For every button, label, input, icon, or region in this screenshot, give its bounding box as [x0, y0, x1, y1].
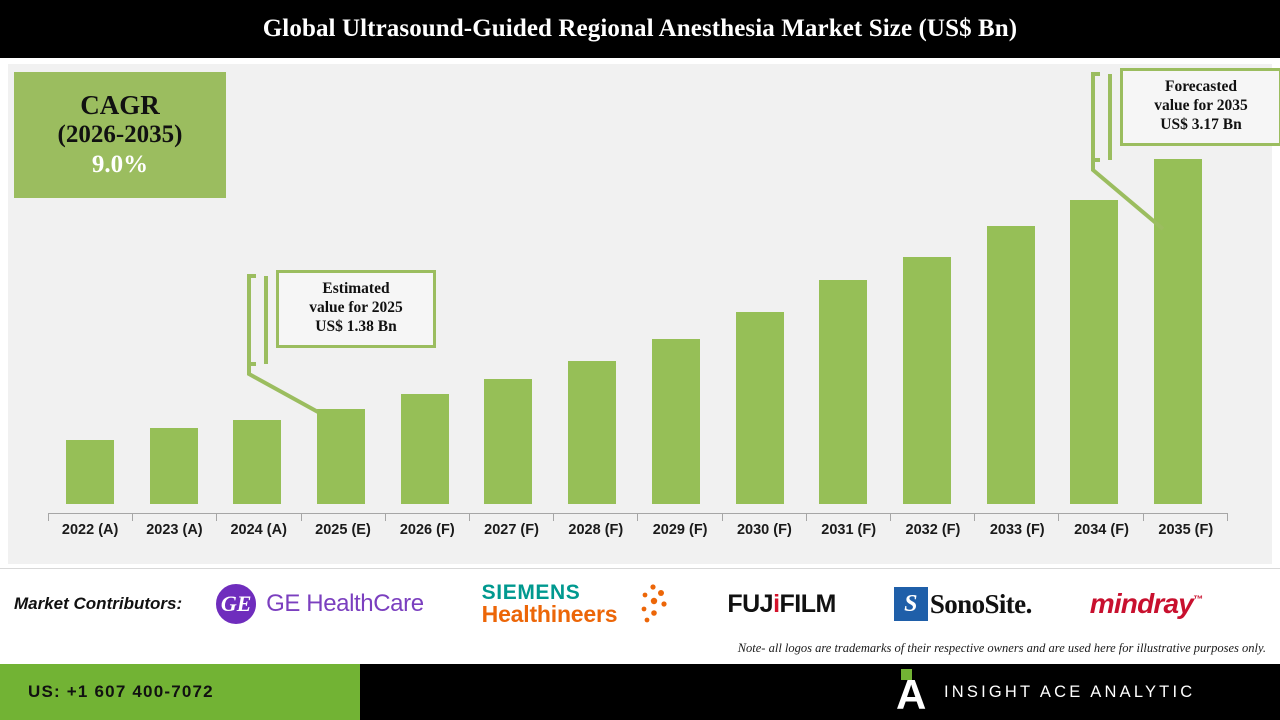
bar-2029[interactable]: [652, 339, 700, 504]
x-axis-tick: [553, 513, 554, 521]
ge-healthcare-wordmark: GE HealthCare: [266, 590, 424, 618]
x-axis-tick: [974, 513, 975, 521]
footer-brand-name: INSIGHT ACE ANALYTIC: [944, 683, 1195, 702]
bar-2035[interactable]: [1154, 159, 1202, 504]
x-axis-label-2025: 2025 (E): [301, 522, 385, 552]
bar-slot: [467, 84, 551, 504]
bar-2028[interactable]: [568, 361, 616, 504]
x-axis-label-2029: 2029 (F): [638, 522, 722, 552]
ge-monogram-icon: GE: [216, 584, 256, 624]
callout-forecast-line3: US$ 3.17 Bn: [1133, 116, 1269, 135]
bar-2022[interactable]: [66, 440, 114, 504]
chart-plot-area: CAGR (2026-2035) 9.0% 2022 (A)2023 (A)20…: [8, 64, 1272, 564]
x-axis-label-2028: 2028 (F): [554, 522, 638, 552]
x-axis-label-2033: 2033 (F): [975, 522, 1059, 552]
bar-slot: [550, 84, 634, 504]
x-axis-ticks: [48, 513, 1228, 521]
bar-2031[interactable]: [819, 280, 867, 504]
chart-panel: CAGR (2026-2035) 9.0% 2022 (A)2023 (A)20…: [0, 58, 1280, 568]
x-axis-label-2024: 2024 (A): [217, 522, 301, 552]
x-axis-tick: [216, 513, 217, 521]
footer-brand: A INSIGHT ACE ANALYTIC: [896, 664, 1195, 720]
x-axis-tick: [722, 513, 723, 521]
x-axis-label-2030: 2030 (F): [722, 522, 806, 552]
callout-forecast-line1: Forecasted: [1133, 78, 1269, 97]
bar-2026[interactable]: [401, 394, 449, 504]
sonosite-wordmark: SonoSite.: [930, 589, 1032, 620]
logo-siemens-healthineers: SIEMENS Healthineers: [482, 582, 670, 626]
bar-slot: [969, 84, 1053, 504]
x-axis-tick: [1058, 513, 1059, 521]
x-axis-tick: [48, 513, 49, 521]
bar-slot: [1136, 84, 1220, 504]
siemens-wordmark-wrap: SIEMENS Healthineers: [482, 582, 670, 626]
callout-estimated-line1: Estimated: [289, 280, 423, 299]
bar-slot: [48, 84, 132, 504]
bar-slot: [634, 84, 718, 504]
x-axis-labels: 2022 (A)2023 (A)2024 (A)2025 (E)2026 (F)…: [48, 522, 1228, 552]
siemens-bottom-line: Healthineers: [482, 603, 618, 626]
siemens-wordmark-lines: SIEMENS Healthineers: [482, 582, 618, 626]
logo-mindray: mindray™: [1090, 588, 1203, 620]
infographic-page: Global Ultrasound-Guided Regional Anesth…: [0, 0, 1280, 720]
mindray-tm-mark: ™: [1193, 595, 1202, 606]
fujifilm-part-b: FILM: [780, 590, 836, 618]
bar-2032[interactable]: [903, 257, 951, 504]
callout-estimated-2025: Estimated value for 2025 US$ 1.38 Bn: [276, 270, 436, 348]
page-title: Global Ultrasound-Guided Regional Anesth…: [263, 15, 1017, 43]
x-axis-label-2034: 2034 (F): [1059, 522, 1143, 552]
x-axis-label-2031: 2031 (F): [807, 522, 891, 552]
callout-forecast-line2: value for 2035: [1133, 97, 1269, 116]
mindray-name: mindray: [1090, 588, 1193, 619]
logo-ge-healthcare: GE GE HealthCare: [216, 584, 424, 624]
x-axis-tick: [1227, 513, 1228, 521]
x-axis-tick: [1143, 513, 1144, 521]
siemens-dots-icon: [623, 582, 669, 626]
bar-2025[interactable]: [317, 409, 365, 504]
bar-2034[interactable]: [1070, 200, 1118, 504]
bar-slot: [1053, 84, 1137, 504]
mindray-wordmark: mindray™: [1090, 588, 1203, 620]
x-axis-label-2022: 2022 (A): [48, 522, 132, 552]
contributors-label: Market Contributors:: [14, 594, 182, 614]
x-axis-tick: [637, 513, 638, 521]
bar-slot: [885, 84, 969, 504]
logo-letter-a: A: [896, 677, 926, 713]
callout-forecast-2035: Forecasted value for 2035 US$ 3.17 Bn: [1120, 68, 1280, 146]
logo-sonosite: S SonoSite.: [894, 587, 1032, 621]
footer-phone-band: US: +1 607 400-7072: [0, 664, 360, 720]
logo-trademark-note: Note- all logos are trademarks of their …: [738, 641, 1266, 656]
bar-2033[interactable]: [987, 226, 1035, 504]
siemens-top-line: SIEMENS: [482, 582, 618, 603]
x-axis-tick: [469, 513, 470, 521]
x-axis-label-2035: 2035 (F): [1144, 522, 1228, 552]
bar-2030[interactable]: [736, 312, 784, 504]
x-axis-tick: [301, 513, 302, 521]
bar-2027[interactable]: [484, 379, 532, 504]
callout-estimated-line2: value for 2025: [289, 299, 423, 318]
title-bar: Global Ultrasound-Guided Regional Anesth…: [0, 0, 1280, 58]
x-axis-label-2032: 2032 (F): [891, 522, 975, 552]
x-axis-tick: [132, 513, 133, 521]
bar-plot: [48, 84, 1220, 504]
x-axis-label-2023: 2023 (A): [132, 522, 216, 552]
fujifilm-part-a: FUJ: [727, 590, 773, 618]
x-axis-tick: [890, 513, 891, 521]
callout-estimated-line3: US$ 1.38 Bn: [289, 318, 423, 337]
footer-phone-number[interactable]: US: +1 607 400-7072: [28, 682, 214, 702]
x-axis-tick: [385, 513, 386, 521]
fujifilm-wordmark: FUJiFILM: [727, 590, 836, 619]
bar-2023[interactable]: [150, 428, 198, 504]
x-axis-tick: [806, 513, 807, 521]
bar-slot: [132, 84, 216, 504]
sonosite-s-icon: S: [894, 587, 928, 621]
bar-2024[interactable]: [233, 420, 281, 504]
x-axis-label-2027: 2027 (F): [469, 522, 553, 552]
bar-series: [48, 84, 1220, 504]
contributors-row: Market Contributors: GE GE HealthCare SI…: [0, 569, 1280, 639]
bar-slot: [718, 84, 802, 504]
insightace-logo-icon: A: [896, 671, 926, 713]
footer-bar: US: +1 607 400-7072 A INSIGHT ACE ANALYT…: [0, 664, 1280, 720]
logo-fujifilm: FUJiFILM: [727, 590, 836, 619]
x-axis-label-2026: 2026 (F): [385, 522, 469, 552]
bar-slot: [801, 84, 885, 504]
market-contributors-strip: Market Contributors: GE GE HealthCare SI…: [0, 568, 1280, 664]
